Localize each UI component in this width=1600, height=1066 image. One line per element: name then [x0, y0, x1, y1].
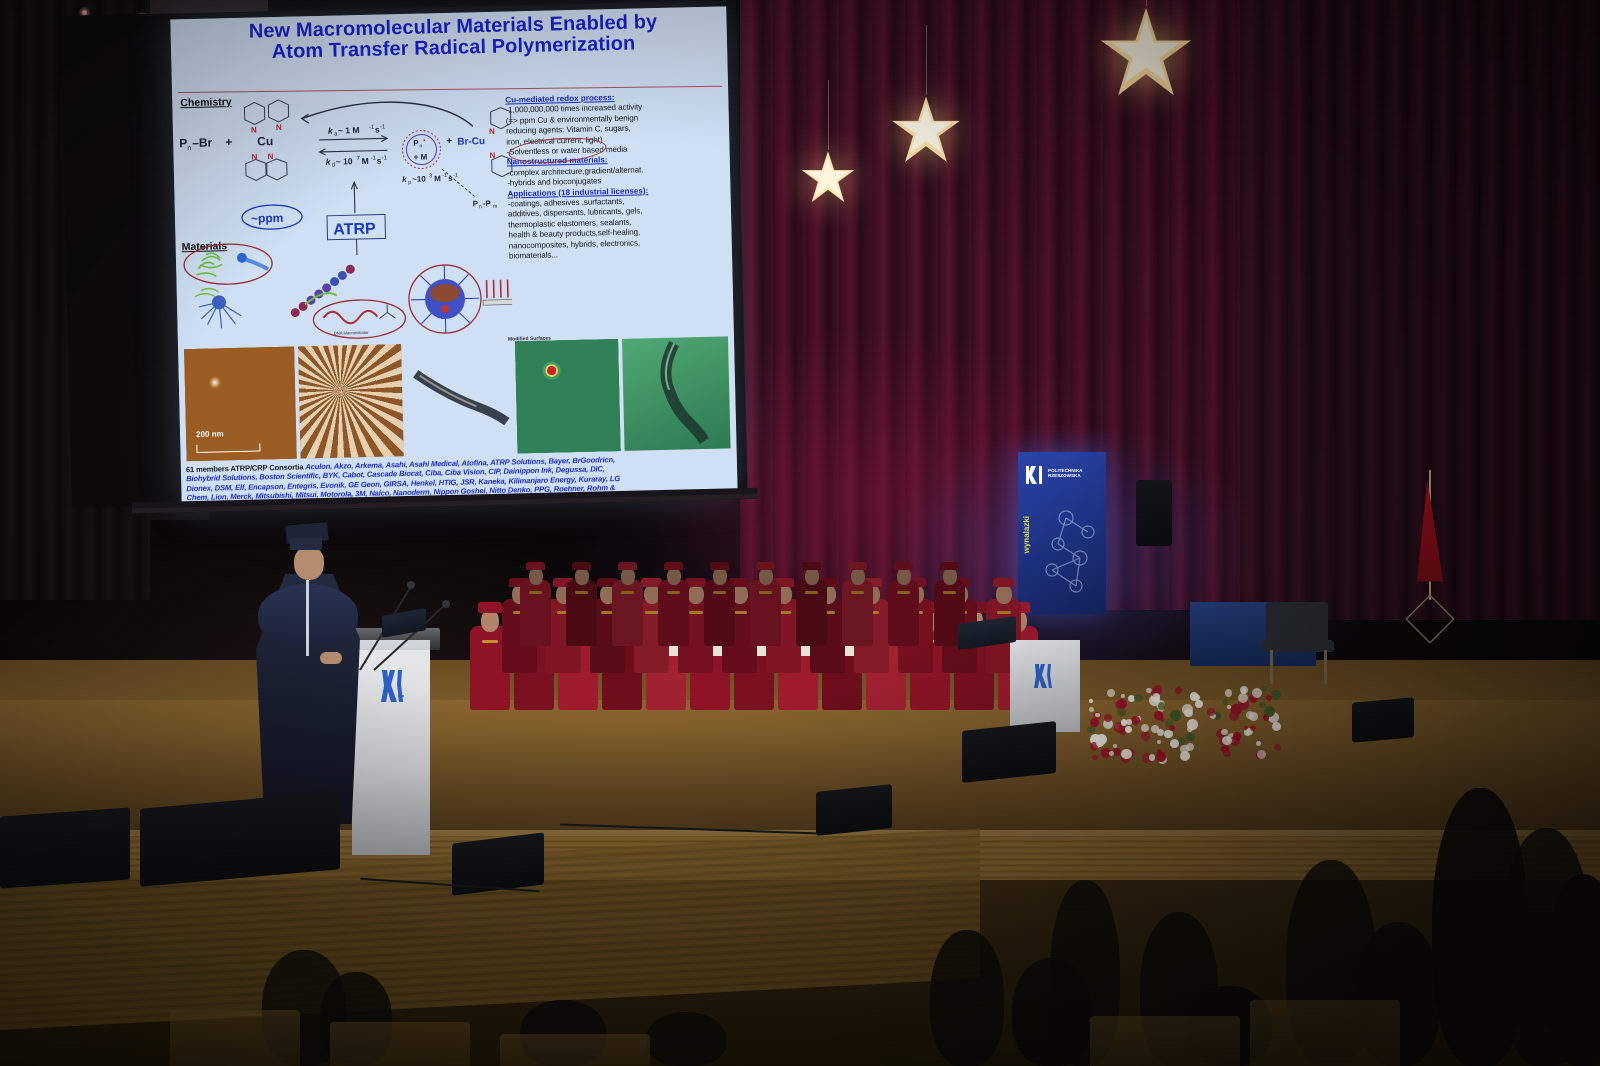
academic-cap: [710, 562, 729, 571]
academic-cap: [993, 578, 1014, 588]
flower: [1117, 699, 1127, 709]
flower: [1250, 725, 1256, 731]
svg-text:DNA Macroinitiator: DNA Macroinitiator: [334, 330, 370, 336]
academic-cap: [526, 562, 545, 571]
confocal-image-dots: [515, 339, 620, 453]
academic-robe: [566, 580, 597, 646]
academic-head: [805, 568, 819, 585]
auditorium-seat: [1090, 1016, 1240, 1066]
svg-text:p: p: [408, 180, 411, 186]
flower: [1264, 706, 1275, 717]
ceremonial-chain: [943, 591, 955, 594]
svg-text:~ppm: ~ppm: [251, 211, 284, 226]
academic-robe: [520, 580, 551, 646]
flower: [1274, 744, 1281, 751]
star-lantern-medium: [890, 95, 962, 172]
svg-text:–Br: –Br: [192, 135, 213, 149]
svg-text:7: 7: [357, 156, 361, 162]
flower: [1207, 708, 1214, 715]
flag-cloth: [1417, 480, 1443, 598]
flower: [1271, 690, 1281, 700]
ceremonial-chain: [713, 591, 725, 594]
confocal-image-structure: [622, 336, 731, 450]
afm-image-fibers: [298, 344, 403, 458]
flower: [1121, 749, 1132, 760]
seated-academic: [888, 560, 919, 646]
academic-cap: [894, 562, 913, 571]
svg-text:~ 10: ~ 10: [336, 156, 353, 166]
academic-head: [529, 568, 543, 585]
flower: [1187, 719, 1198, 730]
presentation-slide: New Macromolecular Materials Enabled by …: [170, 6, 737, 505]
scale-bar-label: 200 nm: [196, 429, 224, 439]
academic-cap: [664, 562, 683, 571]
svg-text:N: N: [251, 125, 257, 134]
academic-head: [897, 568, 911, 585]
auditorium-seat: [170, 1010, 300, 1066]
flower: [1113, 748, 1121, 756]
svg-text:n: n: [479, 204, 482, 210]
svg-text:~10: ~10: [412, 174, 426, 183]
ceremonial-chain: [667, 591, 679, 594]
svg-text:m: m: [493, 204, 498, 210]
academic-head: [851, 568, 865, 585]
seated-academic: [796, 560, 827, 646]
ceremonial-chain: [689, 611, 703, 614]
ceremonial-chain: [529, 591, 541, 594]
afm-image-particles: 200 nm: [184, 347, 297, 462]
star-lantern-large: [1098, 6, 1194, 107]
flower: [1089, 707, 1095, 713]
micrograph-strip: 200 nm: [184, 336, 730, 461]
flower: [1126, 719, 1132, 725]
line-array-speaker: [1136, 480, 1172, 546]
flower: [1262, 686, 1266, 690]
auditorium-seat: [330, 1022, 470, 1066]
seated-academic: [520, 560, 551, 646]
flower: [1229, 711, 1239, 721]
speaker-cap-band: [290, 538, 322, 550]
academic-cap: [940, 562, 959, 571]
academic-robe: [704, 580, 735, 646]
svg-text:-1: -1: [442, 173, 447, 179]
ceremonial-chain: [645, 611, 659, 614]
audience-member: [646, 1012, 726, 1066]
ceremonial-chain: [997, 611, 1011, 614]
svg-text:-1: -1: [380, 124, 386, 130]
flower: [1153, 693, 1160, 700]
academic-head: [713, 568, 727, 585]
flower: [1256, 741, 1261, 746]
svg-text:P: P: [179, 136, 187, 150]
flower: [1134, 694, 1142, 702]
flag-stand: [1405, 594, 1454, 643]
ceremonial-chain: [759, 591, 771, 594]
flower: [1121, 694, 1126, 699]
ceremonial-chain: [805, 591, 817, 594]
projection-screen-assembly: New Macromolecular Materials Enabled by …: [60, 0, 748, 516]
academic-cap: [572, 562, 591, 571]
flower: [1175, 687, 1182, 694]
afm-image-cell: [405, 341, 514, 455]
academic-robe: [888, 580, 919, 646]
svg-text:+: +: [225, 135, 232, 149]
floral-arrangement: [1080, 668, 1280, 764]
ceremonial-chain: [851, 591, 863, 594]
flower: [1095, 713, 1099, 717]
flower: [1121, 719, 1127, 725]
academic-head: [996, 585, 1012, 604]
secondary-lectern-emblem: [1032, 662, 1054, 690]
flower: [1125, 726, 1132, 733]
ceremonial-flag: [1405, 470, 1451, 620]
photo-scene: New Macromolecular Materials Enabled by …: [0, 0, 1600, 1066]
flower: [1184, 709, 1192, 717]
svg-text:N: N: [276, 123, 282, 132]
flower: [1170, 710, 1181, 721]
svg-text:~ 1 M: ~ 1 M: [338, 125, 360, 136]
flower: [1157, 740, 1162, 745]
flower: [1222, 699, 1228, 705]
flower: [1092, 755, 1097, 760]
chair-leg: [1324, 650, 1327, 684]
flower: [1090, 718, 1099, 727]
chair-back: [1266, 602, 1328, 642]
flower: [1164, 730, 1173, 739]
flower: [1186, 733, 1194, 741]
academic-robe: [842, 580, 873, 646]
seated-academic: [704, 560, 735, 646]
speaker-hand: [320, 652, 342, 664]
speaker-head: [294, 546, 324, 580]
flower: [1225, 689, 1232, 696]
academic-robe: [796, 580, 827, 646]
seated-academic: [658, 560, 689, 646]
flower: [1149, 754, 1155, 760]
svg-text:•: •: [423, 137, 426, 144]
academic-robe: [750, 580, 781, 646]
banner-title: POLITECHNIKA RZESZOWSKA: [1048, 468, 1106, 479]
ceremonial-chain: [621, 591, 633, 594]
academic-robe: [658, 580, 689, 646]
scale-bar-ticks: [196, 443, 260, 453]
flower: [1087, 726, 1094, 733]
svg-text:+: +: [446, 136, 452, 147]
flower: [1252, 688, 1262, 698]
flower: [1246, 711, 1253, 718]
academic-head: [667, 568, 681, 585]
svg-text:n: n: [187, 145, 191, 152]
seated-academic: [612, 560, 643, 646]
flower: [1180, 751, 1190, 761]
flower: [1107, 689, 1115, 697]
flower: [1266, 695, 1272, 701]
academic-head: [688, 585, 704, 604]
flower: [1186, 743, 1194, 751]
flower: [1158, 702, 1165, 709]
svg-text:n: n: [419, 144, 422, 150]
stage-monitor-speaker: [0, 807, 130, 888]
seated-academic: [842, 560, 873, 646]
star-lantern-small: [800, 150, 856, 211]
flower: [1109, 751, 1114, 756]
materials-figures: DNA Macroinitiator: [176, 233, 513, 351]
flower: [1190, 692, 1198, 700]
stage-monitor-speaker: [816, 784, 892, 836]
svg-text:-1: -1: [453, 173, 458, 179]
university-banner: POLITECHNIKA RZESZOWSKA wynalazki: [1018, 452, 1106, 614]
svg-text:Br-Cu: Br-Cu: [457, 136, 485, 148]
flower: [1157, 729, 1164, 736]
academic-cap: [618, 562, 637, 571]
svg-text:k: k: [402, 175, 407, 184]
svg-text:M: M: [434, 174, 441, 183]
slide-bullet-column: Cu-mediated redox process: -1,000,000,00…: [505, 90, 731, 262]
svg-text:M: M: [362, 156, 369, 166]
svg-text:N: N: [489, 127, 495, 136]
stage-monitor-speaker: [1352, 697, 1414, 742]
auditorium-seat: [1250, 1000, 1400, 1066]
svg-text:+ M: + M: [414, 152, 428, 161]
audience-member: [930, 930, 1004, 1066]
academic-head: [621, 568, 635, 585]
ceremonial-chain: [897, 591, 909, 594]
slide-title: New Macromolecular Materials Enabled by …: [180, 10, 726, 65]
academic-head: [759, 568, 773, 585]
svg-text:d: d: [332, 163, 335, 169]
projection-screen: New Macromolecular Materials Enabled by …: [170, 6, 737, 505]
flower: [1257, 750, 1266, 759]
flower: [1169, 725, 1175, 731]
academic-cap: [802, 562, 821, 571]
ceremonial-chain: [575, 591, 587, 594]
seated-academic: [566, 560, 597, 646]
academic-cap: [848, 562, 867, 571]
flower: [1131, 716, 1140, 725]
academic-head: [575, 568, 589, 585]
seated-academic: [750, 560, 781, 646]
auditorium-seat: [500, 1034, 650, 1066]
academic-cap: [756, 562, 775, 571]
svg-text:3: 3: [429, 173, 432, 179]
flower: [1170, 739, 1179, 748]
flower: [1089, 699, 1093, 703]
svg-text:-1: -1: [382, 155, 388, 161]
flower: [1141, 731, 1151, 741]
flower: [1195, 700, 1203, 708]
flower: [1096, 739, 1104, 747]
academic-head: [943, 568, 957, 585]
academic-robe: [612, 580, 643, 646]
speaker-cord: [306, 580, 309, 656]
svg-text:Cu: Cu: [257, 134, 273, 148]
svg-text:-P: -P: [483, 199, 492, 208]
stage-monitor-speaker: [962, 721, 1056, 783]
svg-text:N: N: [267, 152, 273, 161]
